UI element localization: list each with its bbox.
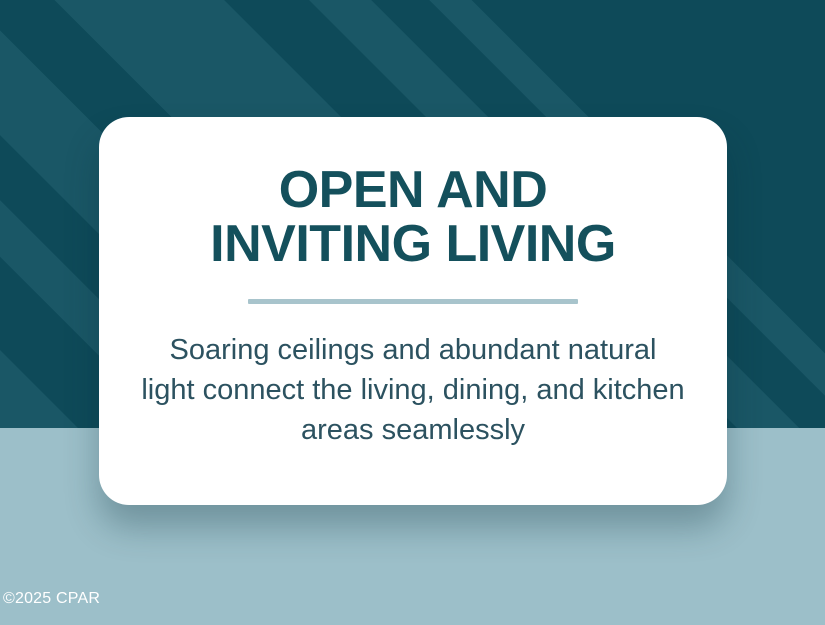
content-card: OPEN AND INVITING LIVING Soaring ceiling… bbox=[99, 117, 727, 505]
slide-title: OPEN AND INVITING LIVING bbox=[210, 163, 616, 271]
slide-body-text: Soaring ceilings and abundant natural li… bbox=[139, 330, 687, 450]
slide-canvas: OPEN AND INVITING LIVING Soaring ceiling… bbox=[0, 0, 825, 625]
title-divider bbox=[248, 299, 578, 304]
copyright-notice: ©2025 CPAR bbox=[3, 589, 100, 609]
